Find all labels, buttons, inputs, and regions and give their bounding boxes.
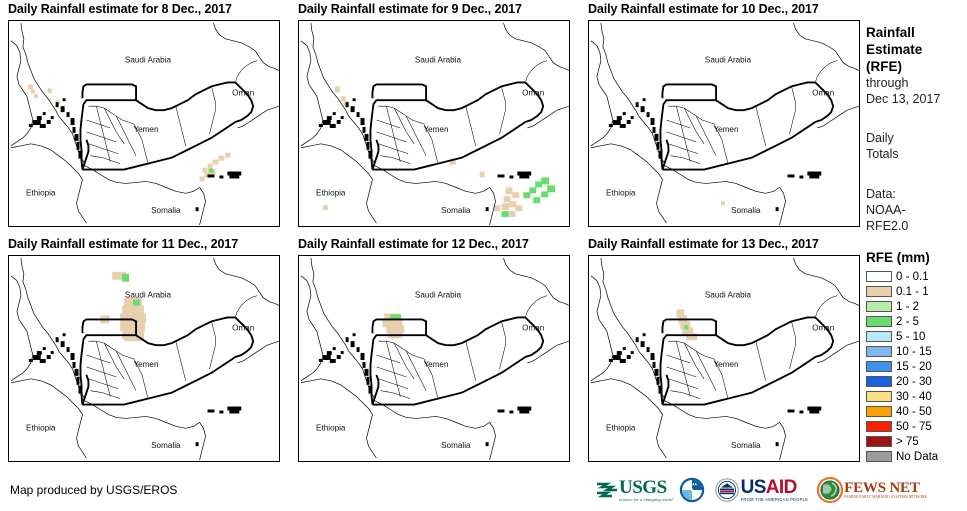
svg-text:Somalia: Somalia xyxy=(151,441,181,450)
svg-text:Somalia: Somalia xyxy=(441,206,471,215)
svg-text:Somalia: Somalia xyxy=(731,206,761,215)
legend-label: 5 - 10 xyxy=(896,331,925,343)
legend-label: No Data xyxy=(896,451,938,463)
svg-text:Saudi Arabia: Saudi Arabia xyxy=(125,56,172,65)
usaid-tagline: FROM THE AMERICAN PEOPLE xyxy=(741,497,809,502)
svg-text:Oman: Oman xyxy=(522,323,544,332)
fewsnet-wordmark: FEWS NET xyxy=(844,481,927,495)
legend-swatch xyxy=(866,436,892,447)
svg-text:Saudi Arabia: Saudi Arabia xyxy=(415,291,462,300)
map-panel-grid: Daily Rainfall estimate for 8 Dec., 2017 xyxy=(0,0,870,470)
svg-text:Ethiopia: Ethiopia xyxy=(316,188,346,197)
country-borders-2 xyxy=(370,82,543,169)
svg-text:Oman: Oman xyxy=(812,88,834,97)
legend-swatch xyxy=(866,451,892,462)
svg-text:Ethiopia: Ethiopia xyxy=(606,188,636,197)
rfe-legend: RFE (mm) 0 - 0.10.1 - 11 - 22 - 55 - 101… xyxy=(866,250,967,464)
country-name-labels-3: Saudi Arabia Oman Yemen Ethiopia Somalia xyxy=(606,56,834,216)
data-source-block: Data: NOAA- RFE2.0 xyxy=(866,186,967,234)
svg-text:Yemen: Yemen xyxy=(423,360,448,369)
coastal-islands-1 xyxy=(29,98,241,211)
admin-boundaries-5 xyxy=(376,296,547,399)
through-date: Dec 13, 2017 xyxy=(866,91,967,107)
usgs-logo[interactable]: USGS science for a changing world xyxy=(596,476,673,504)
legend-label: 15 - 20 xyxy=(896,361,932,373)
through-label: through xyxy=(866,75,967,91)
legend-swatch xyxy=(866,301,892,312)
legend-swatch xyxy=(866,361,892,372)
country-borders-3 xyxy=(660,82,833,169)
map-frame-4[interactable]: Saudi Arabia Oman Yemen Ethiopia Somalia xyxy=(8,255,280,462)
panel-title-6: Daily Rainfall estimate for 13 Dec., 201… xyxy=(588,237,819,251)
map-frame-1[interactable]: Saudi Arabia Oman Yemen Ethiopia Somalia xyxy=(8,20,280,227)
legend-label: 2 - 5 xyxy=(896,316,919,328)
map-frame-2[interactable]: Saudi Arabia Oman Yemen Ethiopia Somalia xyxy=(298,20,570,227)
legend-row: 30 - 40 xyxy=(866,389,967,404)
svg-text:Somalia: Somalia xyxy=(151,206,181,215)
country-name-labels-6: Saudi Arabia Oman Yemen Ethiopia Somalia xyxy=(606,291,834,451)
country-borders-4 xyxy=(80,317,253,404)
legend-label: 1 - 2 xyxy=(896,301,919,313)
coastal-islands-5 xyxy=(319,333,531,446)
legend-label: > 75 xyxy=(896,436,919,448)
map-credit: Map produced by USGS/EROS xyxy=(10,483,177,497)
usaid-logo[interactable]: USAID FROM THE AMERICAN PEOPLE xyxy=(715,476,809,504)
rfe-title-line1: Rainfall xyxy=(866,24,967,41)
panel-title-5: Daily Rainfall estimate for 12 Dec., 201… xyxy=(298,237,529,251)
svg-text:Ethiopia: Ethiopia xyxy=(316,423,346,432)
panel-title-4: Daily Rainfall estimate for 11 Dec., 201… xyxy=(8,237,238,251)
svg-text:Oman: Oman xyxy=(232,323,254,332)
rainfall-cells-2 xyxy=(323,86,555,217)
coastal-islands-2 xyxy=(319,98,531,211)
usaid-seal-icon xyxy=(715,478,739,502)
logo-bar: USGS science for a changing world NOAA U… xyxy=(596,474,927,506)
legend-row: 50 - 75 xyxy=(866,419,967,434)
svg-text:Somalia: Somalia xyxy=(441,441,471,450)
map-frame-6[interactable]: Saudi Arabia Oman Yemen Ethiopia Somalia xyxy=(588,255,860,462)
map-frame-3[interactable]: Saudi Arabia Oman Yemen Ethiopia Somalia xyxy=(588,20,860,227)
map-panel-5[interactable]: Daily Rainfall estimate for 12 Dec., 201… xyxy=(290,235,580,470)
legend-swatch xyxy=(866,406,892,417)
legend-title: RFE (mm) xyxy=(866,250,967,265)
usaid-wordmark: USAID xyxy=(741,479,809,497)
rfe-title-line3: (RFE) xyxy=(866,58,967,75)
legend-row: 10 - 15 xyxy=(866,344,967,359)
svg-text:Saudi Arabia: Saudi Arabia xyxy=(415,56,462,65)
svg-text:Ethiopia: Ethiopia xyxy=(26,423,56,432)
svg-text:Yemen: Yemen xyxy=(133,360,158,369)
legend-label: 30 - 40 xyxy=(896,391,932,403)
coastal-islands-6 xyxy=(609,333,821,446)
admin-boundaries-4 xyxy=(86,296,257,399)
legend-swatch xyxy=(866,331,892,342)
legend-swatch xyxy=(866,286,892,297)
legend-label: 50 - 75 xyxy=(896,421,932,433)
through-date-block: through Dec 13, 2017 xyxy=(866,75,967,107)
legend-row: 2 - 5 xyxy=(866,314,967,329)
map-panel-3[interactable]: Daily Rainfall estimate for 10 Dec., 201… xyxy=(580,0,870,235)
coastal-islands-3 xyxy=(609,98,821,211)
legend-swatch xyxy=(866,271,892,282)
data-source-line2: RFE2.0 xyxy=(866,218,967,234)
legend-row: 40 - 50 xyxy=(866,404,967,419)
legend-row: 0 - 0.1 xyxy=(866,269,967,284)
fewsnet-tagline: FAMINE EARLY WARNING SYSTEMS NETWORK xyxy=(844,495,927,499)
map-panel-6[interactable]: Daily Rainfall estimate for 13 Dec., 201… xyxy=(580,235,870,470)
map-panel-4[interactable]: Daily Rainfall estimate for 11 Dec., 201… xyxy=(0,235,290,470)
usgs-wordmark: USGS xyxy=(619,479,673,497)
svg-text:Ethiopia: Ethiopia xyxy=(26,188,56,197)
legend-swatch xyxy=(866,376,892,387)
legend-label: 40 - 50 xyxy=(896,406,932,418)
country-name-labels-5: Saudi Arabia Oman Yemen Ethiopia Somalia xyxy=(316,291,544,451)
fewsnet-logo[interactable]: FEWS NET FAMINE EARLY WARNING SYSTEMS NE… xyxy=(817,476,927,504)
svg-text:Ethiopia: Ethiopia xyxy=(606,423,636,432)
svg-text:Saudi Arabia: Saudi Arabia xyxy=(705,56,752,65)
country-name-labels-1: Saudi Arabia Oman Yemen Ethiopia Somalia xyxy=(26,56,254,216)
data-label: Data: xyxy=(866,186,967,202)
coastal-islands-4 xyxy=(29,333,241,446)
daily-totals-block: Daily Totals xyxy=(866,130,967,162)
legend-row: 0.1 - 1 xyxy=(866,284,967,299)
legend-row: 20 - 30 xyxy=(866,374,967,389)
svg-text:Somalia: Somalia xyxy=(731,441,761,450)
svg-text:Saudi Arabia: Saudi Arabia xyxy=(125,291,172,300)
map-panel-2[interactable]: Daily Rainfall estimate for 9 Dec., 2017 xyxy=(290,0,580,235)
svg-text:Yemen: Yemen xyxy=(133,125,158,134)
usgs-tagline: science for a changing world xyxy=(619,497,673,502)
noaa-seal-icon: NOAA xyxy=(679,477,705,503)
rainfall-cells-1 xyxy=(28,84,231,181)
admin-boundaries-2 xyxy=(376,61,547,164)
legend-label: 0 - 0.1 xyxy=(896,271,929,283)
panel-title-3: Daily Rainfall estimate for 10 Dec., 201… xyxy=(588,2,819,16)
rainfall-cells-3 xyxy=(721,201,725,205)
admin-boundaries-1 xyxy=(86,61,257,164)
legend-rows: 0 - 0.10.1 - 11 - 22 - 55 - 1010 - 1515 … xyxy=(866,269,967,464)
rfe-title-line2: Estimate xyxy=(866,41,967,58)
svg-text:Oman: Oman xyxy=(812,323,834,332)
data-source-line1: NOAA- xyxy=(866,202,967,218)
legend-swatch xyxy=(866,421,892,432)
legend-label: 0.1 - 1 xyxy=(896,286,929,298)
panel-title-1: Daily Rainfall estimate for 8 Dec., 2017 xyxy=(8,2,232,16)
admin-boundaries-6 xyxy=(666,296,837,399)
usgs-wave-icon xyxy=(596,481,618,499)
legend-label: 10 - 15 xyxy=(896,346,932,358)
legend-row: 15 - 20 xyxy=(866,359,967,374)
legend-row: 5 - 10 xyxy=(866,329,967,344)
svg-text:Yemen: Yemen xyxy=(713,360,738,369)
svg-text:NOAA: NOAA xyxy=(687,483,698,487)
noaa-logo[interactable]: NOAA xyxy=(679,476,705,504)
svg-text:Oman: Oman xyxy=(522,88,544,97)
legend-row: > 75 xyxy=(866,434,967,449)
panel-title-2: Daily Rainfall estimate for 9 Dec., 2017 xyxy=(298,2,522,16)
map-frame-5[interactable]: Saudi Arabia Oman Yemen Ethiopia Somalia xyxy=(298,255,570,462)
totals-label: Totals xyxy=(866,146,967,162)
legend-swatch xyxy=(866,346,892,357)
svg-text:Yemen: Yemen xyxy=(423,125,448,134)
legend-swatch xyxy=(866,316,892,327)
svg-text:Oman: Oman xyxy=(232,88,254,97)
fewsnet-globe-icon xyxy=(817,477,843,503)
admin-boundaries-3 xyxy=(666,61,837,164)
daily-label: Daily xyxy=(866,130,967,146)
rfe-title: Rainfall Estimate (RFE) xyxy=(866,24,967,75)
legend-row: No Data xyxy=(866,449,967,464)
svg-text:Yemen: Yemen xyxy=(713,125,738,134)
map-panel-1[interactable]: Daily Rainfall estimate for 8 Dec., 2017 xyxy=(0,0,290,235)
legend-label: 20 - 30 xyxy=(896,376,932,388)
legend-row: 1 - 2 xyxy=(866,299,967,314)
rainfall-cells-4 xyxy=(100,272,146,341)
legend-swatch xyxy=(866,391,892,402)
svg-text:Saudi Arabia: Saudi Arabia xyxy=(705,291,752,300)
